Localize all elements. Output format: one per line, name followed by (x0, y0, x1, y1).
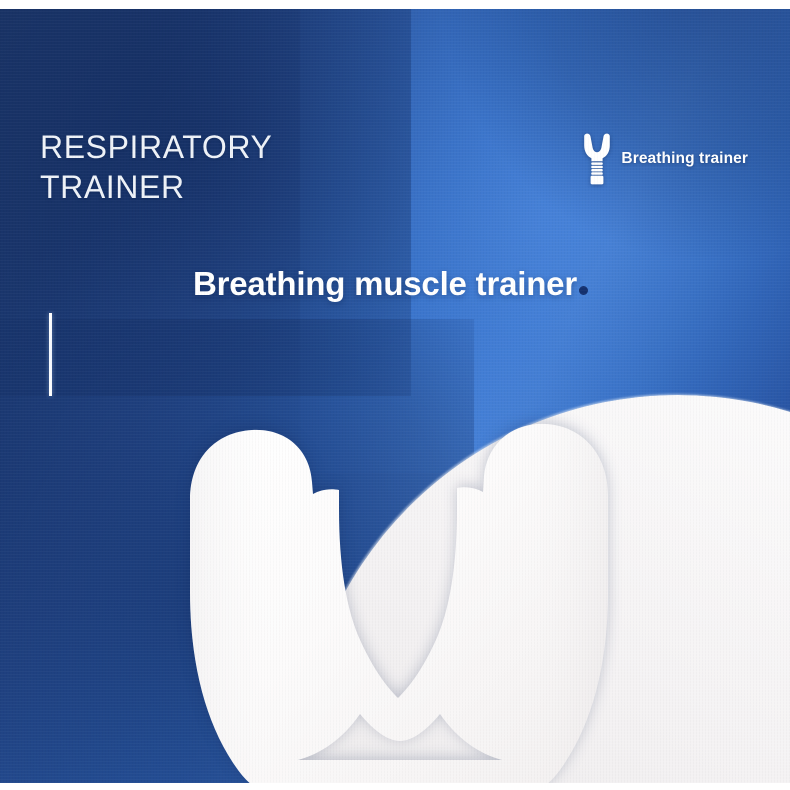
bottom-white-strip (0, 783, 790, 790)
headline-period-dot (579, 286, 588, 295)
left-vertical-accent-rule (49, 313, 52, 396)
breathing-muscle-trainer-mouthpiece-icon (130, 414, 670, 783)
banner-background (0, 9, 790, 783)
top-white-strip (0, 0, 790, 9)
headline-row: Breathing muscle trainer (193, 266, 588, 302)
breathing-trainer-device-icon (582, 133, 612, 185)
main-headline: Breathing muscle trainer (193, 266, 577, 302)
brand-lockup: Breathing trainer (582, 133, 748, 185)
product-banner: RESPIRATORY TRAINER Breathing trainer Br… (0, 0, 790, 790)
brand-name-label: Breathing trainer (621, 150, 748, 168)
eyebrow-heading: RESPIRATORY TRAINER (40, 127, 272, 208)
